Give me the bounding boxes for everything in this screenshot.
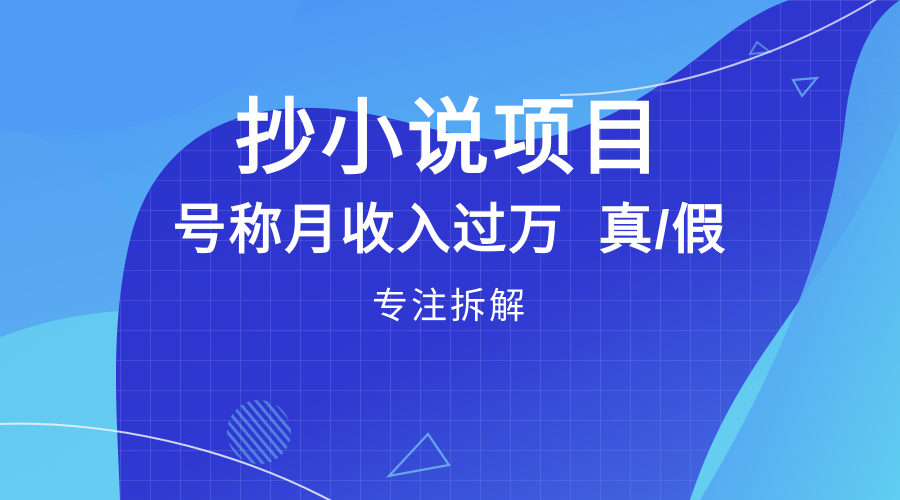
striped-circle-bottom	[227, 400, 291, 464]
banner-background	[0, 0, 900, 500]
promo-banner: 抄小说项目 号称月收入过万 真/假 专注拆解	[0, 0, 900, 500]
